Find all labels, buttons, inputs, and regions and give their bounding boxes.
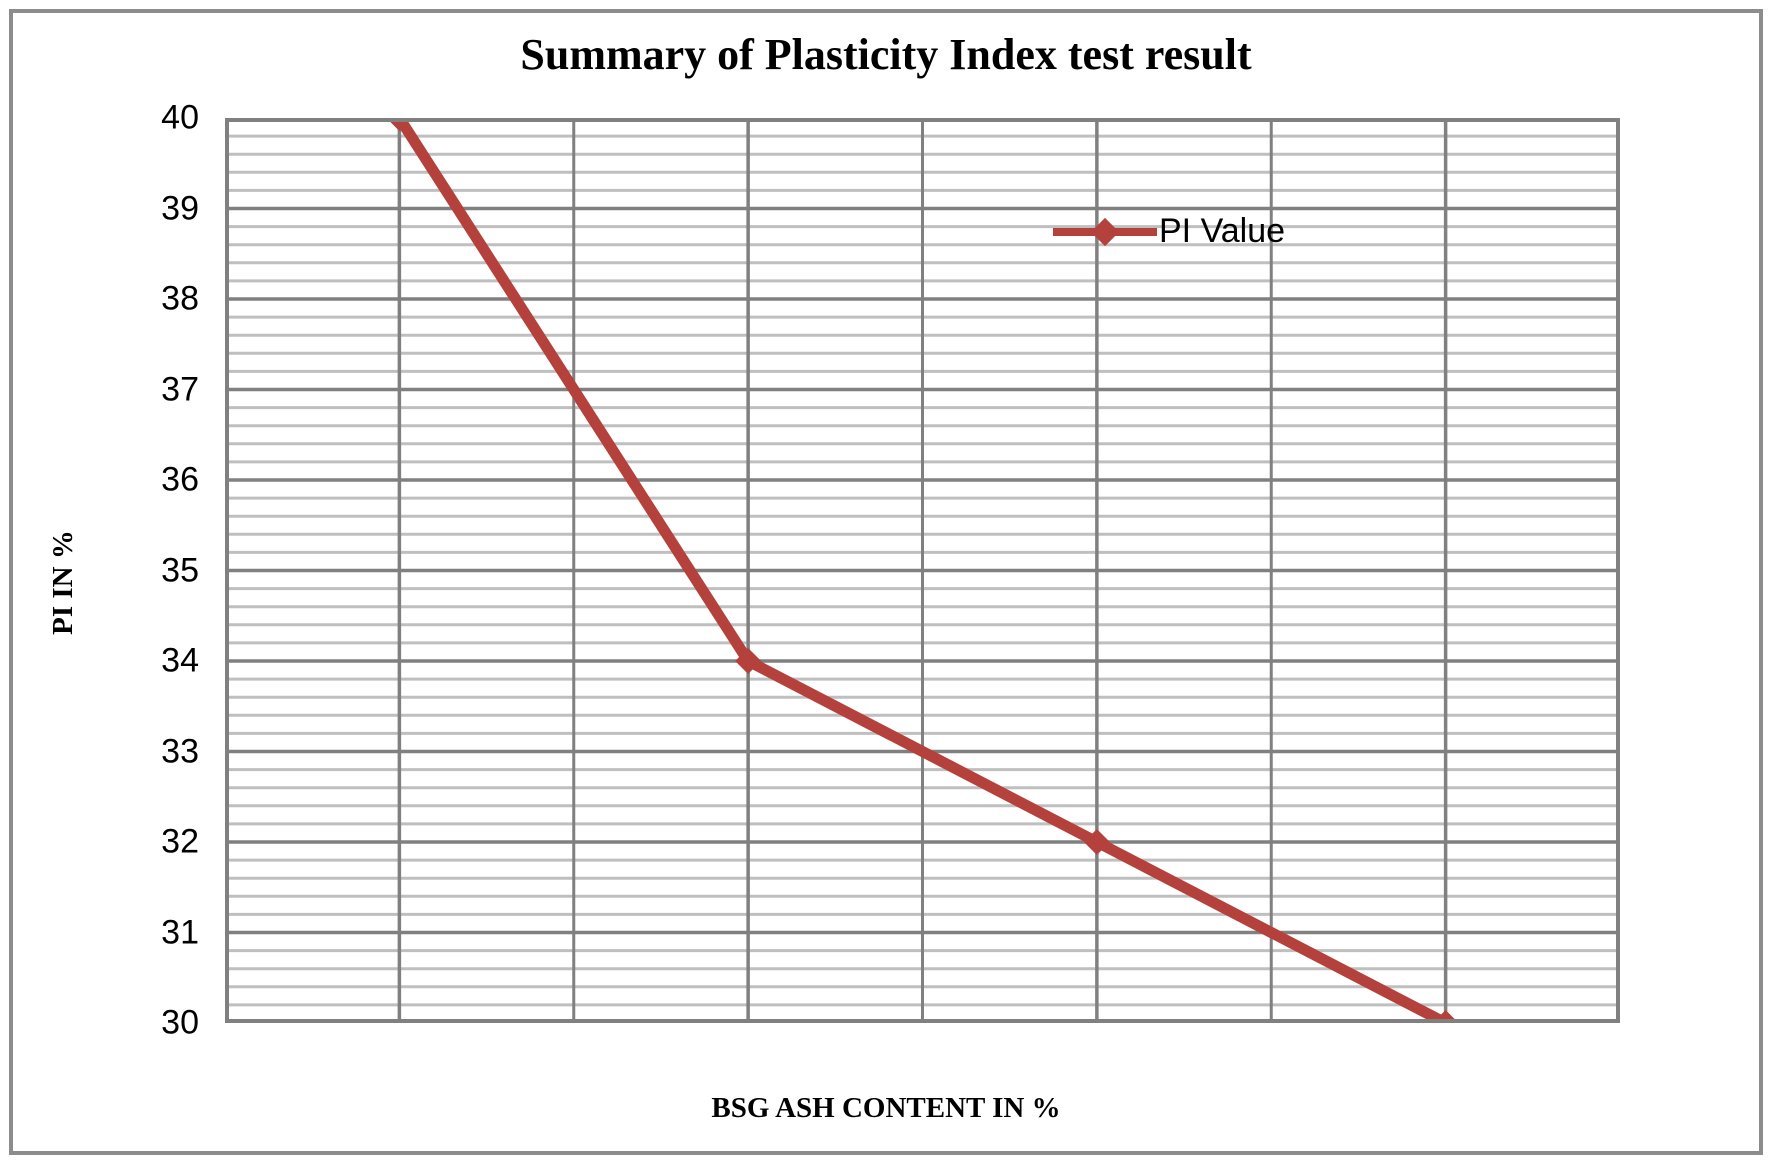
y-axis-tick-label: 35	[89, 551, 199, 590]
y-axis-tick-label: 34	[89, 642, 199, 681]
plot-area	[225, 118, 1620, 1023]
y-axis-tick-label: 30	[89, 1004, 199, 1043]
y-axis-title-text: PI IN %	[47, 530, 80, 635]
y-axis-tick-label: 37	[89, 370, 199, 409]
y-axis-tick-label: 31	[89, 913, 199, 952]
y-axis-tick-label: 36	[89, 461, 199, 500]
chart-frame: Summary of Plasticity Index test result …	[9, 9, 1763, 1155]
legend-diamond-icon	[1091, 217, 1119, 245]
x-axis-title: BSG ASH CONTENT IN %	[13, 1092, 1759, 1125]
y-axis-tick-label: 40	[89, 99, 199, 138]
y-axis-tick-label: 32	[89, 823, 199, 862]
y-axis-tick-label: 39	[89, 189, 199, 228]
legend-marker-pi-value	[1053, 215, 1157, 249]
y-axis-title: PI IN %	[35, 13, 91, 1151]
legend-label-pi-value: PI Value	[1159, 212, 1285, 251]
chart-title: Summary of Plasticity Index test result	[13, 29, 1759, 80]
legend: PI Value	[1053, 212, 1285, 251]
plot-right-border	[1616, 118, 1620, 1023]
y-axis-tick-label: 38	[89, 280, 199, 319]
grid-and-series	[225, 118, 1620, 1023]
y-axis-tick-label: 33	[89, 732, 199, 771]
